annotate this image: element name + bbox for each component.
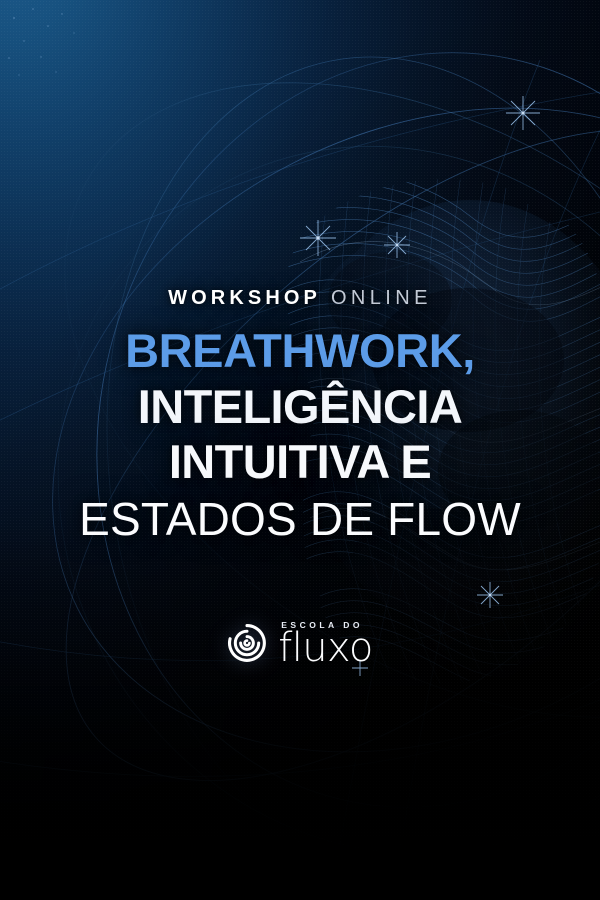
poster-canvas: WORKSHOP ONLINE BREATHWORK, INTELIGÊNCIA… xyxy=(0,0,600,900)
headline-line-4: ESTADOS DE FLOW xyxy=(0,497,600,543)
eyebrow-light-text: ONLINE xyxy=(321,287,432,309)
page-title: BREATHWORK, INTELIGÊNCIA INTUITIVA E EST… xyxy=(0,328,600,542)
brand-logo-wordmark: ESCOLA DO fluxo xyxy=(278,621,372,665)
brand-name: fluxo xyxy=(278,631,372,665)
headline-line-2: INTELIGÊNCIA xyxy=(0,384,600,431)
headline-line-3: INTUITIVA E xyxy=(0,439,600,486)
eyebrow-label: WORKSHOP ONLINE xyxy=(168,288,432,308)
spiral-swirl-icon xyxy=(227,623,267,663)
poster-content: WORKSHOP ONLINE BREATHWORK, INTELIGÊNCIA… xyxy=(0,0,600,900)
brand-logo: ESCOLA DO fluxo xyxy=(227,621,372,665)
eyebrow-strong-text: WORKSHOP xyxy=(168,287,321,309)
headline-line-1: BREATHWORK, xyxy=(0,328,600,375)
